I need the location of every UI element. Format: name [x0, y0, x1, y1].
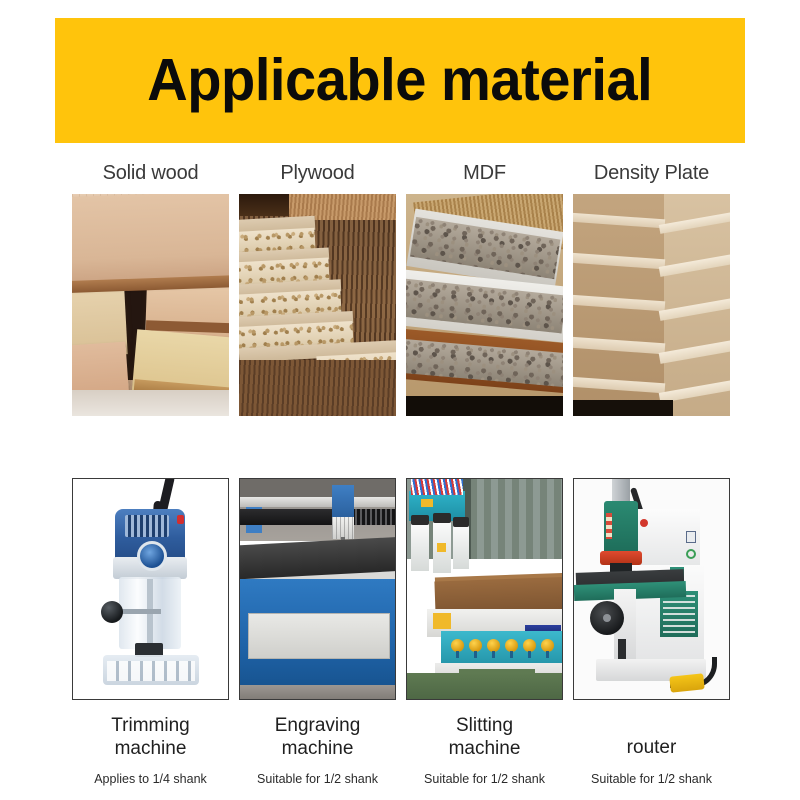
machine-photo-trimming-machine: [72, 478, 229, 700]
machine-cell-trimming-machine: Trimming machine Applies to 1/4 shank: [72, 478, 229, 786]
machine-photo-slitting-machine: [406, 478, 563, 700]
material-photo-solid-wood: [72, 194, 229, 416]
material-cell-mdf: MDF: [406, 162, 563, 416]
machine-photo-router: [573, 478, 730, 700]
machine-cell-engraving-machine: Engraving machine Suitable for 1/2 shank: [239, 478, 396, 786]
machine-note-engraving-machine: Suitable for 1/2 shank: [239, 772, 396, 786]
material-label-solid-wood: Solid wood: [72, 162, 229, 185]
machine-label-slitting-machine: Slitting machine: [406, 714, 563, 760]
machine-photo-engraving-machine: [239, 478, 396, 700]
machine-label-engraving-machine: Engraving machine: [239, 714, 396, 760]
material-photo-plywood: [239, 194, 396, 416]
machine-label-trimming-machine: Trimming machine: [72, 714, 229, 760]
machines-row: Trimming machine Applies to 1/4 shank En…: [72, 478, 732, 786]
material-photo-density-plate: [573, 194, 730, 416]
machine-note-slitting-machine: Suitable for 1/2 shank: [406, 772, 563, 786]
material-cell-solid-wood: Solid wood: [72, 162, 229, 416]
material-photo-mdf: [406, 194, 563, 416]
material-label-mdf: MDF: [406, 162, 563, 185]
material-label-density-plate: Density Plate: [573, 162, 730, 185]
machine-cell-slitting-machine: Slitting machine Suitable for 1/2 shank: [406, 478, 563, 786]
machine-cell-router: router Suitable for 1/2 shank: [573, 478, 730, 786]
material-cell-plywood: Plywood: [239, 162, 396, 416]
page-title: Applicable material: [148, 51, 653, 110]
materials-row: Solid wood Plywood: [72, 162, 732, 416]
applicable-material-banner: Applicable material: [55, 18, 745, 143]
machine-note-trimming-machine: Applies to 1/4 shank: [72, 772, 229, 786]
machine-label-router: router: [573, 714, 730, 760]
material-label-plywood: Plywood: [239, 162, 396, 185]
machine-note-router: Suitable for 1/2 shank: [573, 772, 730, 786]
material-cell-density-plate: Density Plate: [573, 162, 730, 416]
